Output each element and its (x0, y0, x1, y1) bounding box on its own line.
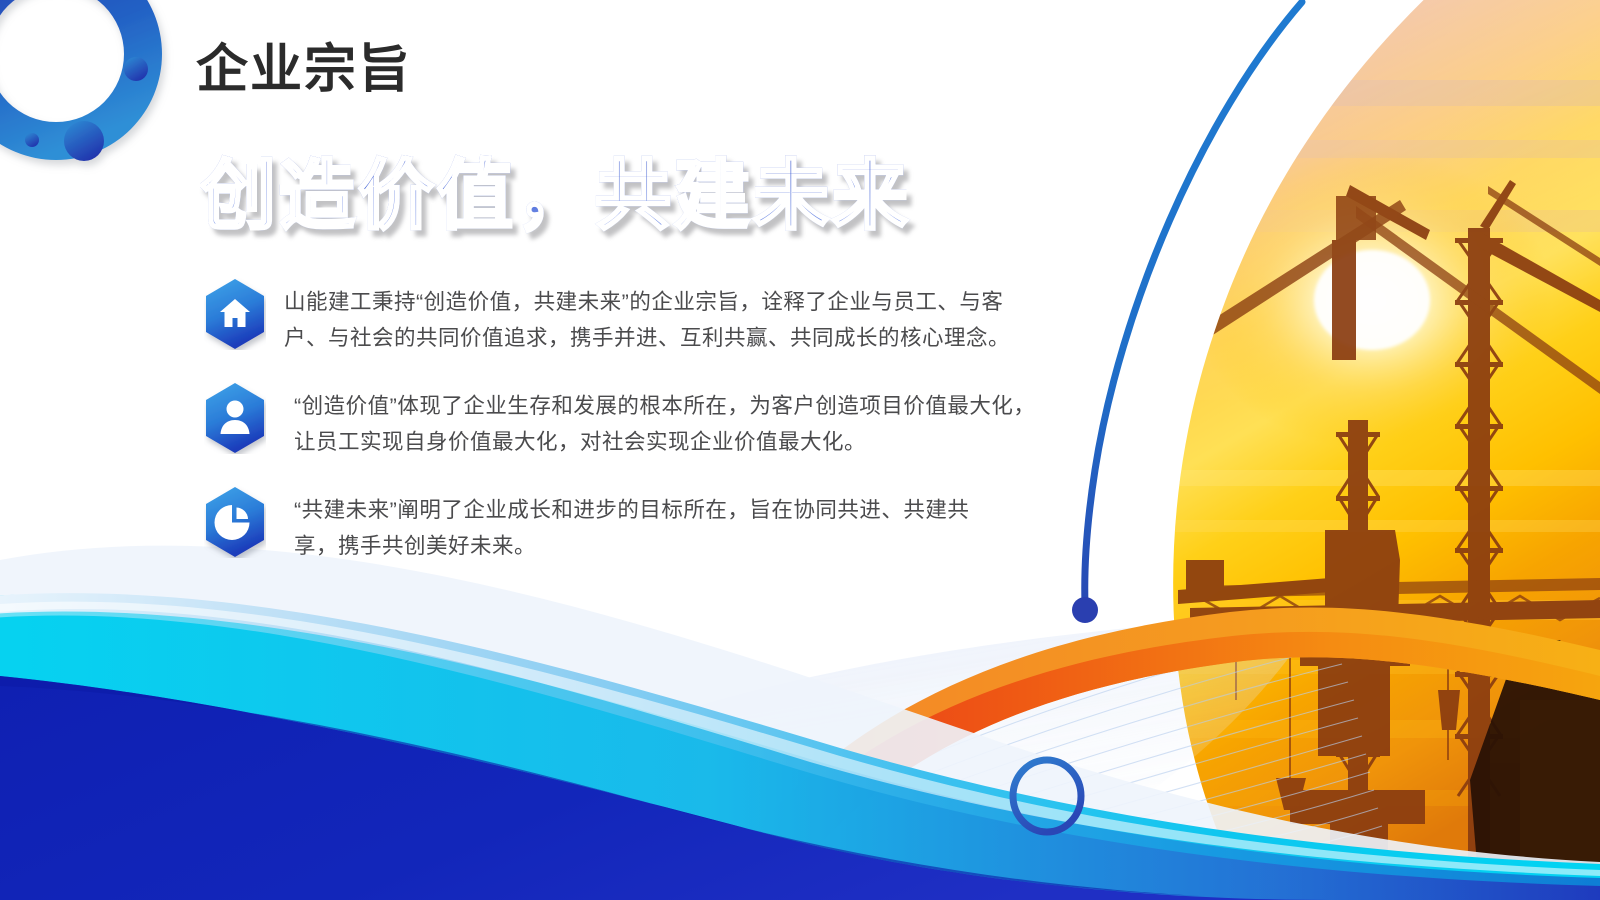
purpose-bullet-list: 山能建工秉持“创造价值，共建未来”的企业宗旨，诠释了企业与员工、与客 户、与社会… (204, 278, 1084, 590)
pale-swoosh (0, 546, 1600, 900)
list-item-text: 山能建工秉持“创造价值，共建未来”的企业宗旨，诠释了企业与员工、与客 户、与社会… (284, 278, 1010, 356)
construction-photo (1140, 0, 1600, 900)
warm-wave (700, 608, 1600, 900)
open-ring (1013, 760, 1081, 832)
slogan-block: 创造价值，共建未来 创造价值，共建未来 (200, 152, 911, 242)
home-icon (204, 278, 266, 350)
deep-blue-wave (0, 676, 1330, 900)
cyan-wave (0, 593, 1600, 900)
list-item: 山能建工秉持“创造价值，共建未来”的企业宗旨，诠释了企业与员工、与客 户、与社会… (204, 278, 1084, 356)
list-item: “创造价值”体现了企业生存和发展的根本所在，为客户创造项目价值最大化， 让员工实… (204, 382, 1084, 460)
fan-lines (300, 612, 1382, 900)
slide-canvas: 企业宗旨 创造价值，共建未来 创造价值，共建未来 (0, 0, 1600, 900)
decor-top-left (0, 0, 162, 161)
list-item: “共建未来”阐明了企业成长和进步的目标所在，旨在协同共进、共建共 享，携手共创美… (204, 486, 1084, 564)
page-title: 企业宗旨 (196, 44, 412, 96)
wave-highlight (0, 602, 1600, 876)
user-icon (204, 382, 266, 454)
list-item-text: “共建未来”阐明了企业成长和进步的目标所在，旨在协同共进、共建共 享，携手共创美… (284, 486, 969, 564)
list-item-text: “创造价值”体现了企业生存和发展的根本所在，为客户创造项目价值最大化， 让员工实… (284, 382, 1035, 460)
accent-arc (1072, 2, 1302, 623)
pie-chart-icon (204, 486, 266, 558)
slogan-text: 创造价值，共建未来 (200, 152, 911, 242)
